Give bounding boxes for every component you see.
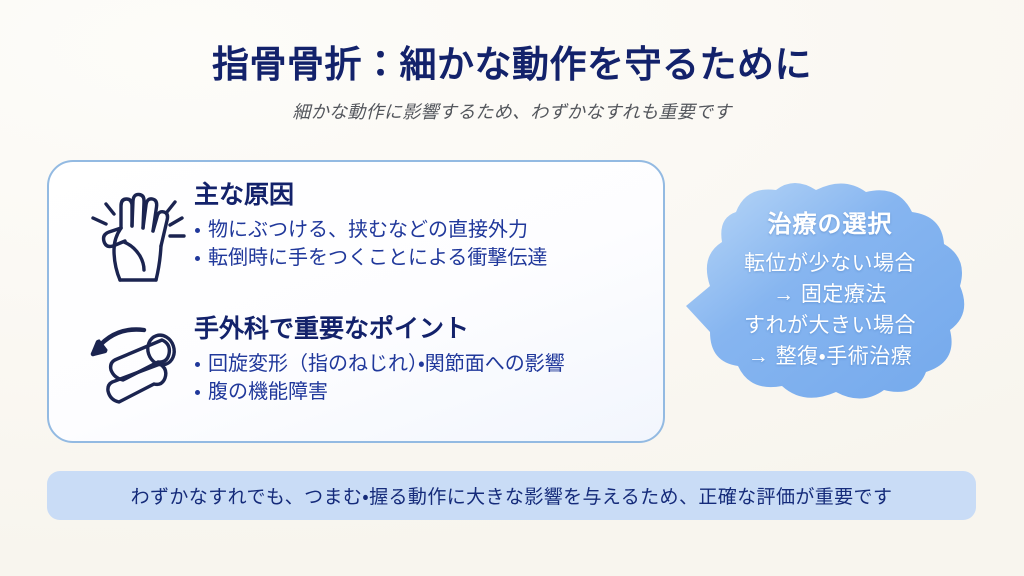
page-title: 指骨骨折：細かな動作を守るために xyxy=(0,44,1024,87)
bubble-line: すれが大きい場合 xyxy=(706,310,954,341)
footer-banner: わずかなすれでも、つまむ・握る動作に大きな影響を与えるため、正確な評価が重要です xyxy=(47,471,976,520)
content-card: 主な原因 物にぶつける、挟むなどの直接外力 転倒時に手をつくことによる衝撃伝達 xyxy=(47,160,665,443)
section-causes-body: 主な原因 物にぶつける、挟むなどの直接外力 転倒時に手をつくことによる衝撃伝達 xyxy=(194,178,547,273)
section-key-points-body: 手外科で重要なポイント 回旋変形（指のねじれ）・関節面への影響 腹の機能障害 xyxy=(194,312,565,407)
bubble-line: → 固定療法 xyxy=(706,279,954,310)
treatment-speech-bubble: 治療の選択 転位が少ない場合 → 固定療法 すれが大きい場合 → 整復・手術治療 xyxy=(676,182,972,406)
section-key-points: 手外科で重要なポイント 回旋変形（指のねじれ）・関節面への影響 腹の機能障害 xyxy=(69,312,565,416)
bubble-title: 治療の選択 xyxy=(706,204,954,239)
bubble-line: 転位が少ない場合 xyxy=(706,248,954,279)
section-causes-bullets: 物にぶつける、挟むなどの直接外力 転倒時に手をつくことによる衝撃伝達 xyxy=(194,216,547,273)
section-causes: 主な原因 物にぶつける、挟むなどの直接外力 転倒時に手をつくことによる衝撃伝達 xyxy=(69,178,547,288)
list-item: 腹の機能障害 xyxy=(194,378,565,406)
list-item: 転倒時に手をつくことによる衝撃伝達 xyxy=(194,244,547,272)
footer-text: わずかなすれでも、つまむ・握る動作に大きな影響を与えるため、正確な評価が重要です xyxy=(131,482,893,509)
list-item: 回旋変形（指のねじれ）・関節面への影響 xyxy=(194,350,565,378)
page-subtitle: 細かな動作に影響するため、わずかなすれも重要です xyxy=(0,98,1024,124)
section-heading: 手外科で重要なポイント xyxy=(194,314,565,344)
section-heading: 主な原因 xyxy=(194,180,547,210)
section-key-points-bullets: 回旋変形（指のねじれ）・関節面への影響 腹の機能障害 xyxy=(194,350,565,407)
bubble-content: 治療の選択 転位が少ない場合 → 固定療法 すれが大きい場合 → 整復・手術治療 xyxy=(676,182,972,406)
bubble-line: → 整復・手術治療 xyxy=(706,341,954,372)
list-item: 物にぶつける、挟むなどの直接外力 xyxy=(194,216,547,244)
rotated-bone-arrow-icon xyxy=(69,312,194,416)
open-hand-impact-icon xyxy=(69,178,194,288)
slide-root: 指骨骨折：細かな動作を守るために 細かな動作に影響するため、わずかなすれも重要で… xyxy=(0,0,1024,576)
slide-header: 指骨骨折：細かな動作を守るために 細かな動作に影響するため、わずかなすれも重要で… xyxy=(0,44,1024,124)
